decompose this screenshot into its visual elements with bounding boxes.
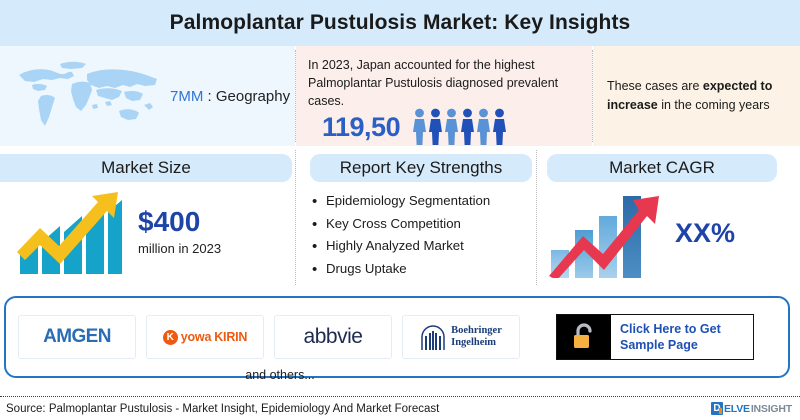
top-stats-strip: 7MM : Geography In 2023, Japan accounted… (0, 46, 800, 146)
geography-label: 7MM : Geography (170, 88, 290, 105)
boehringer-ingelheim-logo: Boehringer Ingelheim (402, 315, 520, 359)
geography-panel: 7MM : Geography (0, 46, 295, 146)
geography-metric: 7MM (170, 88, 203, 105)
list-item: Epidemiology Segmentation (326, 190, 536, 213)
person-icon (460, 108, 475, 146)
market-size-section: Market Size $ (0, 146, 295, 289)
infographic-root: Palmoplantar Pustulosis Market: Key Insi… (0, 0, 800, 420)
report-strengths-section: Report Key Strengths Epidemiology Segmen… (296, 146, 536, 289)
person-icon (428, 108, 443, 146)
japan-stat-panel: In 2023, Japan accounted for the highest… (296, 46, 592, 146)
kyowa-kirin-mark: K (163, 330, 178, 345)
japan-stat-description: In 2023, Japan accounted for the highest… (308, 56, 584, 110)
report-strengths-title: Report Key Strengths (340, 158, 503, 178)
delveinsight-text-2: INSIGHT (751, 403, 792, 415)
partner-logo-group: AMGEN K yowa KIRIN abbvie (6, 315, 520, 359)
unlock-padlock-icon (557, 315, 611, 359)
person-icon (412, 108, 427, 146)
list-item: Key Cross Competition (326, 213, 536, 236)
abbvie-logo: abbvie (274, 315, 392, 359)
growth-bar-chart-arrow-icon (14, 190, 126, 274)
footer-bar: Source: Palmoplantar Pustulosis - Market… (0, 396, 800, 420)
person-icon (492, 108, 507, 146)
market-cagr-section: Market CAGR (537, 146, 800, 289)
delveinsight-logo: D ELVE INSIGHT (711, 402, 792, 415)
boehringer-line2: Ingelheim (451, 337, 496, 348)
report-strengths-header: Report Key Strengths (310, 154, 532, 182)
future-note-tail: in the coming years (658, 98, 770, 112)
partners-card: AMGEN K yowa KIRIN abbvie (4, 296, 790, 378)
amgen-logo: AMGEN (18, 315, 136, 359)
person-icon-group (412, 108, 507, 146)
kyowa-kirin-text-b: KIRIN (214, 330, 247, 344)
market-size-header: Market Size (0, 154, 292, 182)
growth-bar-chart-arrow-icon (547, 188, 665, 278)
market-cagr-value: XX% (675, 218, 735, 249)
abbvie-logo-text: abbvie (304, 325, 363, 349)
market-cagr-body: XX% (537, 188, 800, 278)
cta-line2: Sample Page (620, 338, 698, 352)
boehringer-ingelheim-text: Boehringer Ingelheim (451, 325, 502, 349)
boehringer-line1: Boehringer (451, 325, 502, 336)
market-size-title: Market Size (101, 158, 191, 178)
page-title: Palmoplantar Pustulosis Market: Key Insi… (170, 11, 631, 35)
report-strengths-list: Epidemiology Segmentation Key Cross Comp… (296, 190, 536, 281)
delveinsight-mark: D (711, 402, 723, 415)
market-size-subtitle: million in 2023 (138, 241, 221, 256)
future-note-lead: These cases are (607, 79, 703, 93)
list-item: Drugs Uptake (326, 258, 536, 281)
future-note-text: These cases are expected to increase in … (607, 77, 786, 115)
person-icon (476, 108, 491, 146)
and-others-label: and others... (0, 368, 560, 382)
geography-label-text: Geography (216, 88, 290, 105)
delveinsight-text-1: ELVE (724, 403, 750, 415)
japan-stat-value: 119,50 (322, 112, 400, 143)
person-icon (444, 108, 459, 146)
future-note-panel: These cases are expected to increase in … (593, 46, 800, 146)
cta-line1: Click Here to Get (620, 322, 721, 336)
mid-content-strip: Market Size $ (0, 146, 800, 289)
sample-page-cta-label[interactable]: Click Here to Get Sample Page (611, 315, 753, 359)
sample-page-cta-button[interactable]: Click Here to Get Sample Page (556, 314, 754, 360)
amgen-logo-text: AMGEN (43, 326, 111, 348)
list-item: Highly Analyzed Market (326, 235, 536, 258)
boehringer-arch-icon (420, 322, 446, 352)
source-text: Source: Palmoplantar Pustulosis - Market… (0, 403, 439, 415)
world-map-icon (12, 57, 162, 135)
japan-stat-row: 119,50 (308, 108, 584, 146)
geography-separator: : (203, 88, 216, 105)
market-size-body: $400 million in 2023 (0, 190, 295, 274)
header-bar: Palmoplantar Pustulosis Market: Key Insi… (0, 0, 800, 46)
market-size-text: $400 million in 2023 (138, 208, 221, 256)
market-cagr-header: Market CAGR (547, 154, 777, 182)
kyowa-kirin-text-a: yowa (181, 330, 211, 344)
kyowa-kirin-logo: K yowa KIRIN (146, 315, 264, 359)
market-cagr-title: Market CAGR (609, 158, 715, 178)
market-size-value: $400 (138, 208, 221, 236)
